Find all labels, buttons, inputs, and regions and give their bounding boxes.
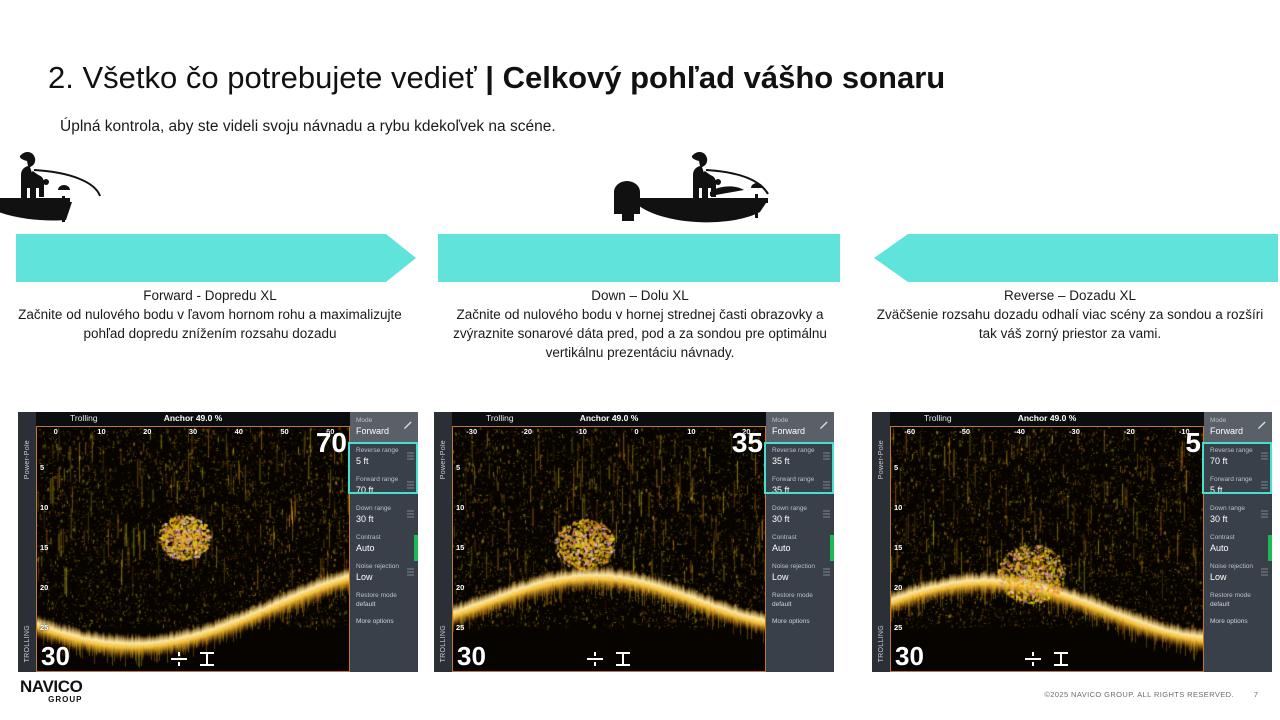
depth-tick: 10 [456, 503, 464, 512]
status-anchor-percent: Anchor 49.0 % [580, 413, 639, 423]
slide-root: 2. Všetko čo potrebujete vedieť | Celkov… [0, 0, 1280, 720]
copyright-text: ©2025 NAVICO GROUP. ALL RIGHTS RESERVED. [1044, 690, 1234, 699]
trolling-label[interactable]: TROLLING [440, 625, 447, 662]
sonar-left-rail: Power-PoleTROLLING [872, 412, 890, 672]
menu-item-reverse-range[interactable]: Reverse range70 ft [1204, 442, 1272, 471]
menu-item-down-range[interactable]: Down range30 ft [1204, 500, 1272, 529]
axis-tick: -20 [1124, 427, 1135, 436]
menu-item-value: 35 ft [772, 455, 829, 467]
caption-heading: Down – Dolu XL [430, 286, 850, 305]
menu-item-more-options[interactable]: More options [350, 613, 418, 630]
menu-item-label: Restore mode [1210, 591, 1267, 600]
range-readout: 5 [1185, 429, 1201, 457]
depth-tick: 15 [40, 543, 48, 552]
range-readout: 70 [316, 429, 347, 457]
rectangle-band-shape [438, 234, 840, 282]
menu-item-value: 70 ft [356, 484, 413, 496]
axis-tick: -30 [466, 427, 477, 436]
menu-item-label: Noise rejection [1210, 562, 1267, 571]
sonar-view[interactable]: -30-20-10010205101520253530 [452, 426, 766, 672]
sonar-echo-canvas [891, 427, 1203, 671]
i-beam-cursor-icon[interactable] [198, 651, 216, 667]
caption-heading: Reverse – Dozadu XL [860, 286, 1280, 305]
split-divider-icon[interactable] [170, 651, 188, 667]
menu-item-mode[interactable]: ModeForward [766, 412, 834, 442]
menu-item-value: 30 ft [356, 513, 413, 525]
sonar-view[interactable]: 01020304050605101520257030 [36, 426, 350, 672]
menu-item-value: default [1210, 600, 1267, 609]
depth-tick: 5 [456, 463, 460, 472]
caption-body: Zväčšenie rozsahu dozadu odhalí viac scé… [860, 305, 1280, 343]
menu-item-down-range[interactable]: Down range30 ft [350, 500, 418, 529]
arrow-right-shape [16, 234, 416, 282]
axis-tick: 50 [280, 427, 288, 436]
page-subtitle: Úplná kontrola, aby ste videli svoju náv… [60, 118, 556, 136]
menu-item-value: Auto [772, 542, 829, 554]
sonar-view[interactable]: -60-50-40-30-20-10510152025530 [890, 426, 1204, 672]
menu-item-contrast[interactable]: ContrastAuto [350, 529, 418, 558]
menu-item-contrast[interactable]: ContrastAuto [1204, 529, 1272, 558]
arrow-left-shape [874, 234, 1278, 282]
sonar-status-bar: TrollingAnchor 49.0 % [36, 412, 350, 426]
sonar-settings-menu[interactable]: ModeForwardReverse range70 ftForward ran… [1204, 412, 1272, 672]
menu-item-value: 5 ft [356, 455, 413, 467]
axis-tick: 40 [235, 427, 243, 436]
menu-item-label: Reverse range [356, 446, 413, 455]
menu-item-restore-mode[interactable]: Restore modedefault [1204, 587, 1272, 613]
depth-tick: 25 [40, 623, 48, 632]
split-divider-icon[interactable] [586, 651, 604, 667]
menu-item-contrast[interactable]: ContrastAuto [766, 529, 834, 558]
slider-grip-icon[interactable] [407, 452, 414, 461]
status-anchor-percent: Anchor 49.0 % [164, 413, 223, 423]
slider-grip-icon[interactable] [823, 481, 830, 490]
menu-item-mode[interactable]: ModeForward [1204, 412, 1272, 442]
menu-item-value: Auto [356, 542, 413, 554]
navico-logo-group: GROUP [20, 695, 82, 704]
axis-tick: 0 [634, 427, 638, 436]
depth-tick: 20 [894, 583, 902, 592]
sonar-status-bar: TrollingAnchor 49.0 % [452, 412, 766, 426]
sonar-screen-reverse[interactable]: Power-PoleTROLLINGTrollingAnchor 49.0 %-… [872, 412, 1272, 672]
sonar-left-rail: Power-PoleTROLLING [18, 412, 36, 672]
sonar-horizontal-axis: -30-20-1001020 [453, 427, 765, 439]
menu-item-value: More options [772, 617, 829, 626]
menu-item-label: Down range [1210, 504, 1267, 513]
sonar-screen-forward[interactable]: Power-PoleTROLLINGTrollingAnchor 49.0 %0… [18, 412, 418, 672]
depth-readout: 30 [895, 641, 924, 671]
arrow-band-reverse [874, 234, 1278, 282]
column-down: Down – Dolu XL Začnite od nulového bodu … [430, 150, 850, 390]
caption-heading: Forward - Dopredu XL [0, 286, 420, 305]
trolling-label[interactable]: TROLLING [878, 625, 885, 662]
menu-item-label: Contrast [356, 533, 413, 542]
axis-tick: -40 [1014, 427, 1025, 436]
axis-tick: 10 [687, 427, 695, 436]
axis-tick: 10 [97, 427, 105, 436]
menu-item-mode[interactable]: ModeForward [350, 412, 418, 442]
sonar-settings-menu[interactable]: ModeForwardReverse range5 ftForward rang… [350, 412, 418, 672]
slider-grip-icon[interactable] [823, 452, 830, 461]
arrow-band-forward [16, 234, 416, 282]
slider-grip-icon[interactable] [1261, 481, 1268, 490]
navico-logo-name: NAVICO [20, 678, 82, 695]
menu-item-more-options[interactable]: More options [1204, 613, 1272, 630]
menu-item-value: More options [1210, 617, 1267, 626]
axis-tick: -30 [1069, 427, 1080, 436]
menu-item-label: Down range [772, 504, 829, 513]
split-divider-icon[interactable] [1024, 651, 1042, 667]
depth-tick: 10 [40, 503, 48, 512]
axis-tick: -10 [576, 427, 587, 436]
page-number: 7 [1254, 690, 1258, 699]
menu-item-label: Restore mode [356, 591, 413, 600]
slider-grip-icon[interactable] [823, 568, 830, 577]
menu-item-noise-rejection[interactable]: Noise rejectionLow [350, 558, 418, 587]
column-forward: Forward - Dopredu XL Začnite od nulového… [0, 150, 420, 390]
menu-item-value: 5 ft [1210, 484, 1267, 496]
caption-reverse: Reverse – Dozadu XL Zväčšenie rozsahu do… [860, 286, 1280, 343]
sonar-bottom-icons [586, 651, 632, 667]
menu-item-label: Forward range [1210, 475, 1267, 484]
menu-item-value: 30 ft [1210, 513, 1267, 525]
page-title-regular: 2. Všetko čo potrebujete vedieť [48, 60, 485, 95]
depth-readout: 30 [41, 641, 70, 671]
menu-item-value: Low [1210, 571, 1267, 583]
menu-item-label: Forward range [772, 475, 829, 484]
depth-tick: 15 [456, 543, 464, 552]
slider-grip-icon[interactable] [407, 481, 414, 490]
page-title: 2. Všetko čo potrebujete vedieť | Celkov… [48, 58, 945, 98]
sonar-status-bar: TrollingAnchor 49.0 % [890, 412, 1204, 426]
i-beam-cursor-icon[interactable] [614, 651, 632, 667]
menu-item-forward-range[interactable]: Forward range35 ft [766, 471, 834, 500]
column-reverse: Reverse – Dozadu XL Zväčšenie rozsahu do… [860, 150, 1280, 390]
slider-grip-icon[interactable] [407, 510, 414, 519]
menu-item-reverse-range[interactable]: Reverse range35 ft [766, 442, 834, 471]
page-title-bold: | Celkový pohľad vášho sonaru [485, 60, 945, 95]
axis-tick: -20 [521, 427, 532, 436]
menu-item-value: default [772, 600, 829, 609]
boat-illustration-reverse [860, 150, 1280, 235]
i-beam-cursor-icon[interactable] [1052, 651, 1070, 667]
sonar-settings-menu[interactable]: ModeForwardReverse range35 ftForward ran… [766, 412, 834, 672]
sonar-bottom-icons [1024, 651, 1070, 667]
caption-body: Začnite od nulového bodu v ľavom hornom … [0, 305, 420, 343]
axis-tick: 0 [54, 427, 58, 436]
menu-item-label: Contrast [1210, 533, 1267, 542]
menu-item-value: 35 ft [772, 484, 829, 496]
depth-tick: 20 [40, 583, 48, 592]
caption-body: Začnite od nulového bodu v hornej stredn… [430, 305, 850, 362]
menu-item-forward-range[interactable]: Forward range5 ft [1204, 471, 1272, 500]
menu-item-value: Low [772, 571, 829, 583]
menu-item-label: Reverse range [1210, 446, 1267, 455]
edit-pencil-icon[interactable] [1257, 417, 1267, 435]
menu-item-reverse-range[interactable]: Reverse range5 ft [350, 442, 418, 471]
axis-tick: 20 [143, 427, 151, 436]
menu-item-value: 70 ft [1210, 455, 1267, 467]
sonar-left-rail: Power-PoleTROLLING [434, 412, 452, 672]
menu-item-label: Down range [356, 504, 413, 513]
menu-item-label: Contrast [772, 533, 829, 542]
edit-pencil-icon[interactable] [819, 417, 829, 435]
slider-grip-icon[interactable] [1261, 568, 1268, 577]
sonar-horizontal-axis: -60-50-40-30-20-10 [891, 427, 1203, 439]
power-pole-label[interactable]: Power-Pole [878, 440, 885, 479]
caption-forward: Forward - Dopredu XL Začnite od nulového… [0, 286, 420, 343]
slider-grip-icon[interactable] [1261, 510, 1268, 519]
caption-down: Down – Dolu XL Začnite od nulového bodu … [430, 286, 850, 362]
depth-tick: 5 [894, 463, 898, 472]
range-readout: 35 [732, 429, 763, 457]
menu-item-forward-range[interactable]: Forward range70 ft [350, 471, 418, 500]
menu-item-label: Reverse range [772, 446, 829, 455]
menu-item-value: Auto [1210, 542, 1267, 554]
axis-tick: -50 [959, 427, 970, 436]
menu-item-label: Restore mode [772, 591, 829, 600]
status-anchor-percent: Anchor 49.0 % [1018, 413, 1077, 423]
depth-tick: 25 [456, 623, 464, 632]
menu-item-restore-mode[interactable]: Restore modedefault [766, 587, 834, 613]
menu-item-label: Forward range [356, 475, 413, 484]
menu-item-noise-rejection[interactable]: Noise rejectionLow [766, 558, 834, 587]
slider-grip-icon[interactable] [823, 510, 830, 519]
navico-logo: NAVICO GROUP [20, 678, 82, 704]
axis-tick: -60 [904, 427, 915, 436]
edit-pencil-icon[interactable] [403, 417, 413, 435]
menu-item-value: More options [356, 617, 413, 626]
menu-item-more-options[interactable]: More options [766, 613, 834, 630]
depth-tick: 15 [894, 543, 902, 552]
columns-region: Forward - Dopredu XL Začnite od nulového… [0, 150, 1280, 390]
menu-item-restore-mode[interactable]: Restore modedefault [350, 587, 418, 613]
menu-item-label: Noise rejection [772, 562, 829, 571]
power-pole-label[interactable]: Power-Pole [440, 440, 447, 479]
slider-grip-icon[interactable] [1261, 452, 1268, 461]
menu-item-value: default [356, 600, 413, 609]
boat-illustration-forward [0, 150, 420, 235]
status-trolling: Trolling [70, 413, 98, 423]
angler-boat-icon [600, 150, 800, 235]
depth-tick: 20 [456, 583, 464, 592]
sonar-screen-down[interactable]: Power-PoleTROLLINGTrollingAnchor 49.0 %-… [434, 412, 834, 672]
menu-item-value: 30 ft [772, 513, 829, 525]
boat-illustration-down [430, 150, 850, 235]
power-pole-label[interactable]: Power-Pole [24, 440, 31, 479]
slider-grip-icon[interactable] [407, 568, 414, 577]
axis-tick: 30 [189, 427, 197, 436]
depth-readout: 30 [457, 641, 486, 671]
status-trolling: Trolling [486, 413, 514, 423]
trolling-label[interactable]: TROLLING [24, 625, 31, 662]
depth-tick: 25 [894, 623, 902, 632]
depth-tick: 5 [40, 463, 44, 472]
menu-item-noise-rejection[interactable]: Noise rejectionLow [1204, 558, 1272, 587]
sonar-echo-canvas [37, 427, 349, 671]
menu-item-label: Noise rejection [356, 562, 413, 571]
menu-item-down-range[interactable]: Down range30 ft [766, 500, 834, 529]
arrow-band-down [438, 234, 840, 282]
sonar-echo-canvas [453, 427, 765, 671]
status-trolling: Trolling [924, 413, 952, 423]
sonar-bottom-icons [170, 651, 216, 667]
menu-item-value: Low [356, 571, 413, 583]
depth-tick: 10 [894, 503, 902, 512]
angler-boat-icon [0, 150, 240, 235]
sonar-horizontal-axis: 0102030405060 [37, 427, 349, 439]
